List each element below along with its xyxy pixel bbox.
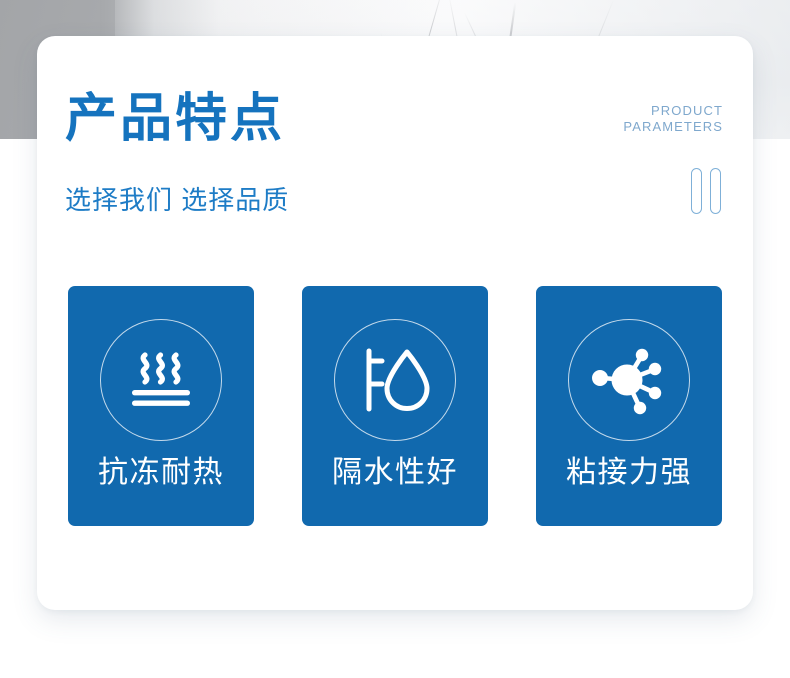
eyebrow-text: PRODUCT PARAMETERS — [623, 103, 723, 135]
feature-card-label: 粘接力强 — [536, 458, 722, 488]
feature-card-adhesion[interactable]: 粘接力强 — [536, 286, 722, 526]
page-title: 产品特点 — [65, 93, 285, 145]
feature-card-list: 抗冻耐热 隔水性好 — [68, 286, 722, 526]
pause-bar-right — [710, 168, 721, 214]
page-background: 产品特点 选择我们 选择品质 PRODUCT PARAMETERS — [0, 0, 790, 678]
molecule-bond-icon — [568, 319, 690, 441]
page-subtitle: 选择我们 选择品质 — [65, 187, 289, 213]
pause-bar-left — [691, 168, 702, 214]
eyebrow-line-2: PARAMETERS — [623, 119, 723, 135]
pause-bars-icon — [691, 168, 721, 214]
content-panel: 产品特点 选择我们 选择品质 PRODUCT PARAMETERS — [37, 36, 753, 610]
water-drop-scale-icon — [334, 319, 456, 441]
eyebrow-line-1: PRODUCT — [623, 103, 723, 119]
heat-waves-icon — [100, 319, 222, 441]
feature-card-label: 隔水性好 — [302, 458, 488, 488]
feature-card-frost-heat[interactable]: 抗冻耐热 — [68, 286, 254, 526]
feature-card-waterproof[interactable]: 隔水性好 — [302, 286, 488, 526]
feature-card-label: 抗冻耐热 — [68, 458, 254, 488]
